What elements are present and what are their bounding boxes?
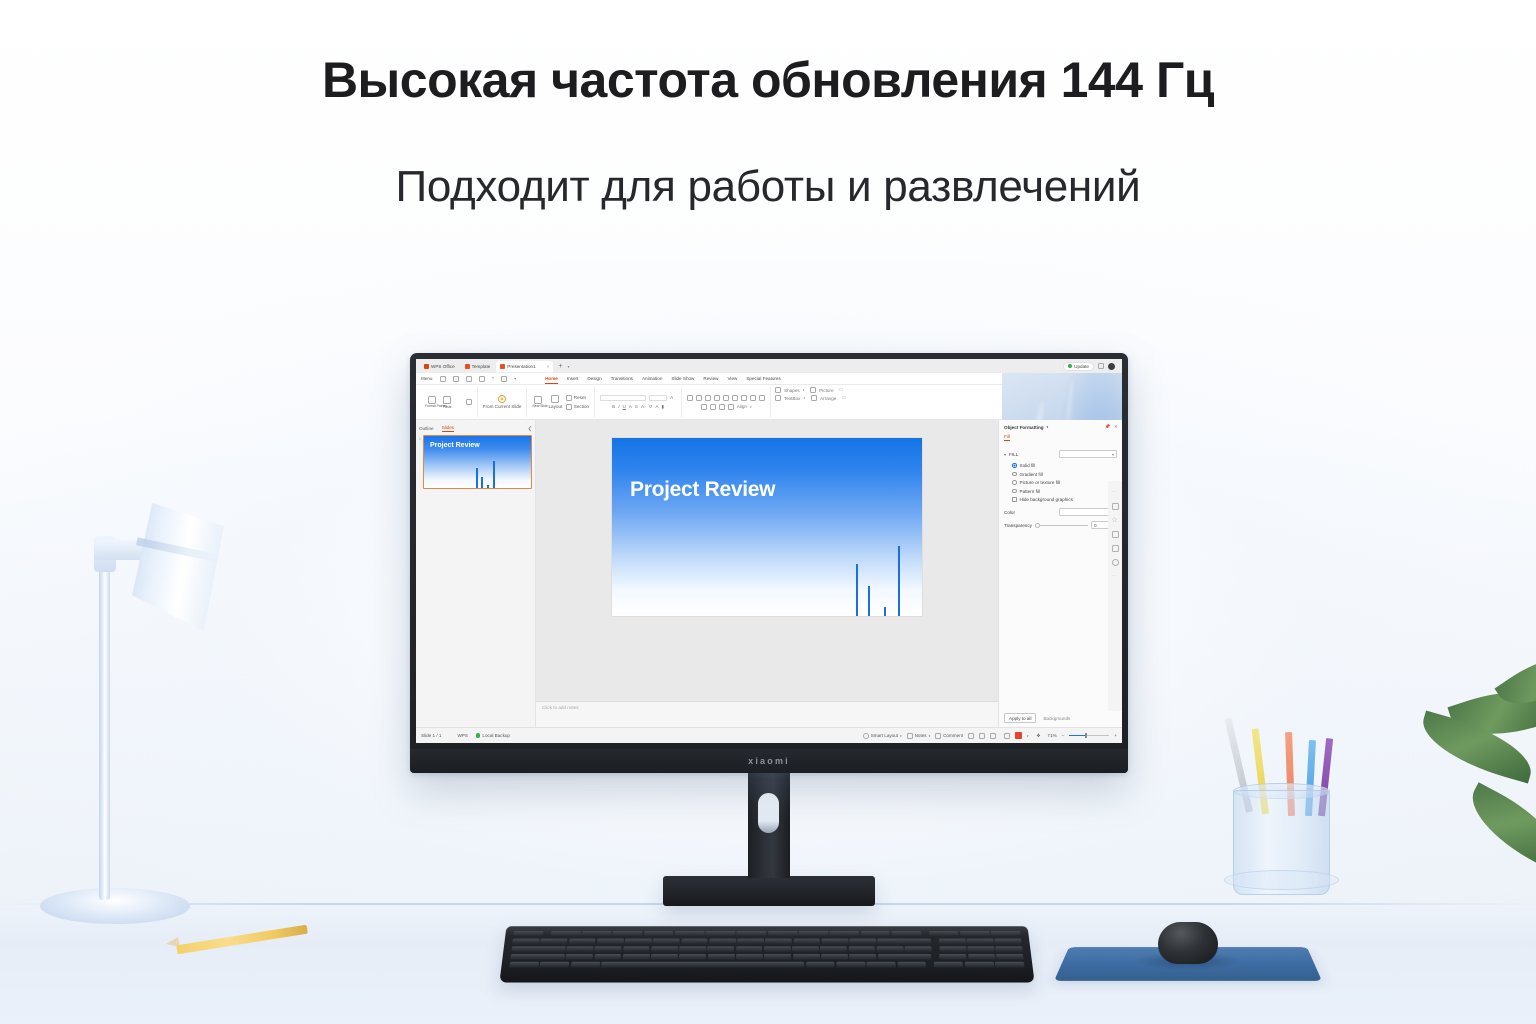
monitor-screen: WPS Office Template Presentation1 × + ▾ (416, 359, 1122, 743)
layout-icon (551, 395, 559, 403)
panel-title: Object Formatting (1004, 425, 1044, 430)
shapes-label[interactable]: Shapes (784, 388, 800, 393)
underline-button[interactable]: U (623, 404, 626, 409)
cut-icon[interactable] (456, 399, 462, 405)
picture-label[interactable]: Picture (819, 388, 833, 393)
line-spacing-icon[interactable] (759, 395, 765, 401)
notes-view-icon[interactable] (1004, 733, 1010, 739)
chevron-down-icon[interactable]: ▾ (567, 364, 569, 369)
window-tab-bar: WPS Office Template Presentation1 × + ▾ (416, 359, 1122, 373)
align-center-icon[interactable] (732, 395, 738, 401)
smart-layout-button[interactable]: Smart Layout ▾ (863, 733, 902, 739)
play-slide-icon (498, 395, 506, 403)
clear-format-button[interactable]: ↺ (649, 404, 653, 410)
paste-label: Paste (443, 405, 452, 409)
layout-button[interactable]: Layout (548, 395, 562, 409)
radio-icon (1012, 480, 1017, 485)
picture-icon (810, 387, 816, 393)
avatar[interactable] (1108, 363, 1115, 370)
new-slide-button[interactable]: New Slide (532, 396, 544, 409)
ribbon-tab-special-features[interactable]: Special Features (746, 376, 780, 381)
ribbon-tab-slide-show[interactable]: Slide Show (671, 376, 694, 381)
update-label: Update (1074, 364, 1089, 369)
update-button[interactable]: Update (1063, 362, 1094, 371)
product-scene: xiaomi WPS Office T (0, 0, 1536, 1024)
app-name-status: WPS (449, 733, 467, 739)
option-label: Solid fill (1020, 463, 1036, 468)
monitor: xiaomi WPS Office T (410, 353, 1128, 773)
option-pattern-fill[interactable]: Pattern fill (1012, 489, 1117, 494)
slide-panel-tabs: Outline Slides ❮ (419, 423, 532, 435)
from-current-slide-label: From Current Slide (483, 404, 522, 409)
option-picture-or-texture-fill[interactable]: Picture or texture fill (1012, 480, 1117, 485)
chevron-down-icon[interactable]: ▾ (1047, 425, 1049, 429)
chevron-down-icon: ▾ (1004, 452, 1006, 457)
notes-icon (907, 733, 913, 739)
radio-icon (1012, 472, 1017, 477)
design-ideas-icon[interactable] (1112, 503, 1119, 510)
ribbon-tab-list: Home Insert Design Transitions Animation… (545, 376, 781, 381)
zoom-in-button[interactable]: + (1114, 733, 1117, 738)
zoom-slider[interactable] (1069, 735, 1109, 736)
option-label: Picture or texture fill (1020, 480, 1061, 485)
save-icon[interactable] (440, 376, 446, 382)
pin-icon[interactable]: 📌 (1105, 424, 1111, 430)
reset-label: Reset (574, 395, 586, 400)
collapse-panel-icon[interactable]: ❮ (528, 426, 532, 432)
notes-placeholder: Click to add notes (542, 705, 579, 710)
keyboard[interactable] (499, 926, 1034, 982)
highlight-button[interactable]: ▮ (662, 404, 665, 410)
window-tab-label: Presentation1 (507, 364, 535, 369)
chevron-down-icon[interactable]: ▾ (750, 405, 752, 409)
justify-icon[interactable] (750, 395, 756, 401)
reading-view-icon[interactable] (990, 733, 996, 739)
paragraph-row-1 (687, 395, 765, 401)
option-hide-background-graphics[interactable]: Hide background graphics (1012, 497, 1117, 502)
ribbon-group-slides: New Slide Layout Reset (527, 387, 595, 417)
thumbnail-title: Project Review (430, 442, 480, 449)
window-tab-label: Template (472, 364, 491, 369)
increase-indent-icon[interactable] (714, 395, 720, 401)
arrange-label[interactable]: Arrange (820, 396, 836, 401)
option-label: Gradient fill (1020, 472, 1043, 477)
menu-button[interactable]: Menu (421, 376, 433, 381)
textbox-icon (775, 395, 781, 401)
touch-mode-icon[interactable] (501, 376, 507, 382)
increase-font-icon[interactable]: A (670, 395, 676, 401)
font-name-row: A (600, 395, 676, 401)
option-solid-fill[interactable]: Solid fill (1012, 463, 1117, 468)
format-painter-label: Format Painter (425, 405, 439, 409)
align-left-icon[interactable] (723, 395, 729, 401)
section-button[interactable]: Section (566, 404, 589, 410)
shapes-icon (775, 387, 781, 393)
window-tab-presentation1[interactable]: Presentation1 × (496, 361, 553, 372)
option-label: Pattern fill (1020, 489, 1040, 494)
ribbon-group-font: A B I U A S A› ↺ A ▮ (595, 387, 682, 417)
apply-to-all-button[interactable]: Apply to all (1004, 713, 1036, 723)
textbox-label[interactable]: TextBox (784, 396, 800, 401)
slide-count-label: Slide 1 / 1 (421, 733, 441, 738)
window-tab-label: WPS Office (431, 364, 455, 369)
more-icon[interactable]: ⋯ (1112, 573, 1119, 580)
text-direction-icon[interactable] (710, 404, 716, 410)
align-right-icon[interactable] (741, 395, 747, 401)
ribbon-tab-design[interactable]: Design (587, 376, 601, 381)
transparency-slider[interactable] (1035, 523, 1088, 528)
arrange-icon (811, 395, 817, 401)
columns-icon[interactable] (701, 404, 707, 410)
notes-button[interactable]: Notes ▾ (907, 733, 931, 739)
copy-icon[interactable] (466, 399, 472, 405)
slide-editor[interactable]: Project Review (612, 438, 922, 616)
fill-options-list: Solid fill Gradient fill Picture or text… (1004, 463, 1117, 502)
format-painter-button[interactable]: Format Painter (425, 396, 439, 409)
right-icon-rail: ⋯ ☆ ⋯ (1108, 481, 1122, 711)
object-formatting-panel: Object Formatting ▾ 📌 × Fill ▾ FILL ▾ (998, 420, 1122, 727)
transparency-row: Transparency 0 % (1004, 521, 1117, 529)
option-gradient-fill[interactable]: Gradient fill (1012, 472, 1117, 477)
ribbon-group-clipboard: Format Painter Paste (420, 387, 478, 417)
outline-color-icon[interactable]: □ (842, 395, 848, 401)
resources-icon[interactable] (1112, 531, 1119, 538)
window-tab-wps-office[interactable]: WPS Office (420, 361, 459, 372)
italic-button[interactable]: I (618, 404, 619, 409)
char-spacing-button[interactable]: A› (641, 404, 646, 409)
more-options-icon[interactable]: ⋯ (1112, 489, 1119, 496)
font-name-input[interactable] (600, 395, 646, 401)
lamp-base (40, 888, 190, 924)
mouse[interactable] (1158, 922, 1218, 964)
favorites-icon[interactable]: ☆ (1112, 517, 1119, 524)
monitor-stand-base (663, 876, 875, 906)
new-tab-button[interactable]: + (555, 363, 565, 370)
comment-icon (935, 733, 941, 739)
slideshow-button[interactable] (1015, 732, 1022, 739)
panel-footer: Apply to all Backgrounds (1004, 713, 1117, 723)
transparency-value: 0 (1094, 523, 1097, 528)
zoom-out-button[interactable]: – (1062, 733, 1065, 738)
normal-view-icon[interactable] (968, 733, 974, 739)
format-painter-icon (428, 396, 436, 404)
local-backup-status[interactable]: Local Backup (476, 733, 510, 738)
ribbon-tab-transitions[interactable]: Transitions (611, 376, 633, 381)
ribbon-tab-insert[interactable]: Insert (567, 376, 579, 381)
slide-title[interactable]: Project Review (630, 478, 775, 502)
strikethrough-button[interactable]: A (629, 404, 632, 409)
font-size-input[interactable] (649, 395, 667, 401)
window-tab-template[interactable]: Template (461, 361, 495, 372)
brand-logo: xiaomi (748, 756, 790, 766)
monitor-stand-cutout (758, 793, 779, 833)
align-label[interactable]: Align (737, 404, 747, 409)
panel-header: Object Formatting ▾ 📌 × (1004, 424, 1117, 434)
slide-sorter-icon[interactable] (979, 733, 985, 739)
comment-button[interactable]: Comment (935, 733, 963, 739)
wps-office-window: WPS Office Template Presentation1 × + ▾ (416, 359, 1122, 743)
tab-outline[interactable]: Outline (419, 426, 434, 431)
font-color-button[interactable]: A (655, 404, 658, 409)
screenshot-icon[interactable] (1112, 545, 1119, 552)
bold-button[interactable]: B (612, 404, 615, 409)
color-row: Color ▾ (1004, 508, 1117, 516)
fill-section-header[interactable]: ▾ FILL ▾ (1004, 450, 1117, 458)
layout-label: Layout (548, 404, 562, 409)
panel-tab-fill[interactable]: Fill (1004, 434, 1010, 441)
drawing-row-2: TextBox ▾ Arrange □ (775, 395, 848, 401)
backup-status-icon (476, 733, 481, 738)
ribbon-tab-review[interactable]: Review (703, 376, 718, 381)
ribbon-group-drawing: Shapes ▾ Picture □ TextBox ▾ Arrange (771, 387, 852, 417)
ribbon-tab-view[interactable]: View (727, 376, 737, 381)
slide-navigator: Outline Slides ❮ 1 Project Review (416, 420, 536, 727)
slide-number: 1 (419, 435, 421, 441)
reset-icon (566, 395, 572, 401)
close-icon[interactable]: × (1114, 424, 1117, 430)
slide-canvas-area: Project Review Click to add notes (536, 420, 998, 727)
history-icon[interactable] (1112, 559, 1119, 566)
ribbon-group-slideshow: From Current Slide (478, 387, 528, 417)
transparency-label: Transparency (1004, 523, 1032, 528)
zoom-level[interactable]: 71% (1048, 733, 1057, 738)
section-icon (566, 404, 572, 410)
status-bar: Slide 1 / 1 WPS Local Backup Smart Layou… (416, 727, 1122, 743)
radio-icon (1012, 489, 1017, 494)
checkbox-icon (1012, 497, 1017, 502)
decrease-indent-icon[interactable] (705, 395, 711, 401)
update-status-icon (1068, 364, 1072, 368)
ribbon-tab-animation[interactable]: Animation (642, 376, 662, 381)
fill-preset-select[interactable]: ▾ (1059, 450, 1117, 458)
smart-layout-icon (863, 733, 869, 739)
slide-thumbnail-1[interactable]: Project Review (423, 435, 532, 489)
ribbon-tab-home[interactable]: Home (545, 376, 558, 381)
shadow-button[interactable]: S (635, 404, 638, 409)
notes-pane[interactable]: Click to add notes (536, 701, 998, 727)
reset-button[interactable]: Reset (566, 395, 589, 401)
split-view-icon[interactable] (1098, 363, 1104, 369)
template-icon (465, 364, 470, 369)
align-text-icon[interactable] (719, 404, 725, 410)
wps-icon (424, 364, 429, 369)
numbering-icon[interactable] (696, 395, 702, 401)
fit-to-window-icon[interactable]: ✥ (1037, 733, 1043, 739)
bullets-icon[interactable] (687, 395, 693, 401)
color-label: Color (1004, 510, 1015, 515)
convert-smartart-icon[interactable] (728, 404, 734, 410)
print-icon[interactable] (453, 376, 459, 382)
slide-decoration-bars (838, 536, 904, 616)
drawing-row-1: Shapes ▾ Picture □ (775, 387, 848, 393)
from-current-slide-button[interactable]: From Current Slide (483, 395, 522, 409)
fill-section-label: FILL (1009, 452, 1018, 457)
chevron-down-icon[interactable]: ▾ (514, 376, 516, 381)
paste-button[interactable]: Paste (443, 396, 452, 409)
ribbon-group-paragraph: Align ▾ (682, 387, 771, 417)
option-label: Hide background graphics (1020, 497, 1073, 502)
fill-color-icon[interactable]: □ (840, 387, 846, 393)
wps-status-icon (449, 733, 455, 739)
backgrounds-button[interactable]: Backgrounds (1040, 714, 1073, 722)
slide-thumbnail-list: 1 Project Review (419, 435, 532, 489)
font-style-row: B I U A S A› ↺ A ▮ (612, 404, 664, 410)
undo-icon[interactable] (466, 376, 472, 382)
tab-slides[interactable]: Slides (442, 425, 455, 432)
lamp-pole (99, 548, 110, 900)
window-controls: Update (1063, 362, 1118, 371)
monitor-chin: xiaomi (410, 749, 1128, 773)
new-slide-label: New Slide (532, 405, 544, 409)
new-slide-icon (534, 396, 542, 404)
app-body: Outline Slides ❮ 1 Project Review (416, 420, 1122, 727)
tab-close-icon[interactable]: × (547, 364, 550, 369)
redo-icon[interactable] (479, 376, 485, 382)
presentation-icon (500, 364, 505, 369)
paste-icon (443, 396, 451, 404)
keyboard-keys (509, 931, 1024, 968)
pencil-cup-base (1224, 870, 1339, 890)
help-icon[interactable]: ? (492, 376, 495, 381)
paragraph-row-2: Align ▾ (701, 404, 752, 410)
status-bar-right: Smart Layout ▾ Notes ▾ Comment (863, 732, 1117, 739)
radio-icon (1012, 463, 1017, 468)
section-label: Section (574, 404, 589, 409)
